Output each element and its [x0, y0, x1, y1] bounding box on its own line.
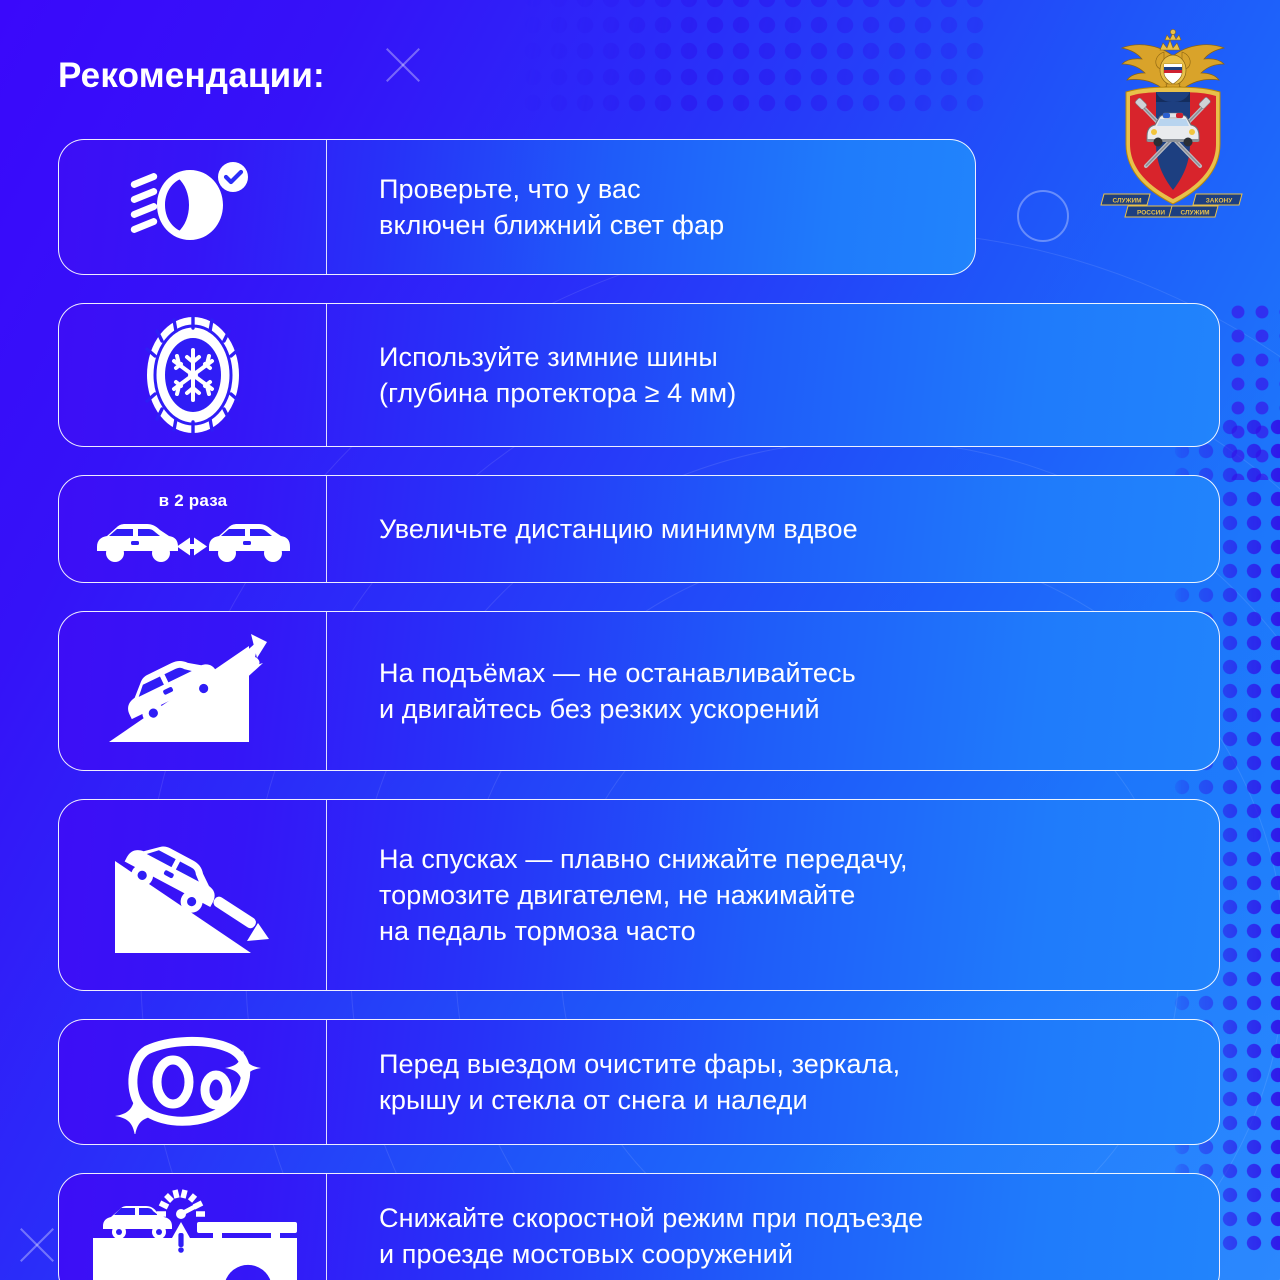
- icon-mini-label: в 2 раза: [159, 491, 228, 511]
- icon-cell: [59, 1174, 327, 1280]
- text-cell: Перед выездом очистите фары, зеркала, кр…: [327, 1020, 1219, 1144]
- recommendation-text: На спусках — плавно снижайте передачу, т…: [379, 841, 908, 950]
- text-cell: На подъёмах — не останавливайтесь и двиг…: [327, 612, 1219, 770]
- recommendation-card-uphill[interactable]: На подъёмах — не останавливайтесь и двиг…: [58, 611, 1220, 771]
- recommendation-text: Снижайте скоростной режим при подъезде и…: [379, 1200, 923, 1272]
- recommendation-list: Проверьте, что у вас включен ближний све…: [58, 139, 1220, 1280]
- text-cell: Увеличьте дистанцию минимум вдвое: [327, 476, 1219, 582]
- clean-headlight-sparkle-icon: [113, 1030, 273, 1134]
- car-uphill-arrow-icon: [101, 632, 285, 750]
- recommendation-card-clean-car[interactable]: Перед выездом очистите фары, зеркала, кр…: [58, 1019, 1220, 1145]
- text-cell: Используйте зимние шины (глубина протект…: [327, 304, 1219, 446]
- recommendation-text: На подъёмах — не останавливайтесь и двиг…: [379, 655, 856, 727]
- recommendation-card-distance[interactable]: в 2 раза: [58, 475, 1220, 583]
- icon-cell: [59, 140, 327, 274]
- bridge-speed-limit-icon: [85, 1184, 301, 1280]
- car-downhill-arrow-icon: [101, 825, 285, 965]
- two-cars-distance-icon: [93, 513, 293, 567]
- recommendation-card-bridges[interactable]: Снижайте скоростной режим при подъезде и…: [58, 1173, 1220, 1280]
- recommendation-text: Увеличьте дистанцию минимум вдвое: [379, 511, 858, 547]
- recommendation-text: Проверьте, что у вас включен ближний све…: [379, 171, 724, 243]
- text-cell: Снижайте скоростной режим при подъезде и…: [327, 1174, 1219, 1280]
- recommendation-text: Перед выездом очистите фары, зеркала, кр…: [379, 1046, 900, 1118]
- recommendation-card-winter-tires[interactable]: Используйте зимние шины (глубина протект…: [58, 303, 1220, 447]
- winter-tire-snowflake-icon: [134, 314, 252, 436]
- icon-cell: [59, 1020, 327, 1144]
- icon-cell: [59, 800, 327, 990]
- recommendation-text: Используйте зимние шины (глубина протект…: [379, 339, 736, 411]
- text-cell: Проверьте, что у вас включен ближний све…: [327, 140, 975, 274]
- page-title: Рекомендации:: [58, 56, 325, 96]
- recommendation-card-headlights[interactable]: Проверьте, что у вас включен ближний све…: [58, 139, 976, 275]
- recommendation-card-downhill[interactable]: На спусках — плавно снижайте передачу, т…: [58, 799, 1220, 991]
- infographic-page: Рекомендации:: [0, 0, 1280, 1280]
- headlight-check-icon: [128, 161, 258, 253]
- icon-cell: в 2 раза: [59, 476, 327, 582]
- text-cell: На спусках — плавно снижайте передачу, т…: [327, 800, 1219, 990]
- icon-cell: [59, 304, 327, 446]
- icon-cell: [59, 612, 327, 770]
